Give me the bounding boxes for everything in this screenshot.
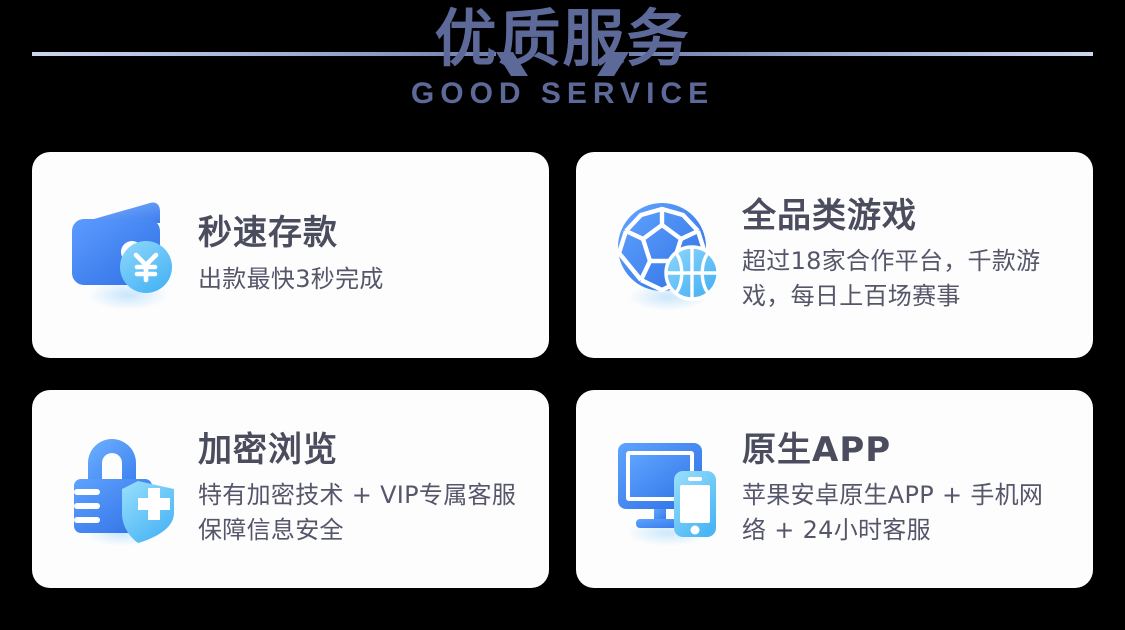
page-subtitle: GOOD SERVICE: [0, 77, 1125, 111]
card-title: 原生APP: [742, 431, 1067, 470]
card-description: 超过18家合作平台，千款游戏，每日上百场赛事: [742, 244, 1067, 312]
card-description: 出款最快3秒完成: [198, 262, 523, 296]
lock-shield-icon: [66, 429, 186, 549]
service-card-native-app[interactable]: 原生APP 苹果安卓原生APP + 手机网络 + 24小时客服: [576, 390, 1093, 588]
page-title: 优质服务: [0, 6, 1125, 73]
card-description: 苹果安卓原生APP + 手机网络 + 24小时客服: [742, 478, 1067, 546]
card-title: 全品类游戏: [742, 197, 1067, 236]
wallet-yen-icon: [66, 195, 186, 315]
card-title: 秒速存款: [198, 214, 523, 253]
service-card-grid: 秒速存款 出款最快3秒完成: [32, 152, 1093, 588]
page-header: 优质服务 GOOD SERVICE: [0, 0, 1125, 140]
service-card-games[interactable]: 全品类游戏 超过18家合作平台，千款游戏，每日上百场赛事: [576, 152, 1093, 358]
monitor-phone-icon: [610, 429, 730, 549]
service-card-encryption[interactable]: 加密浏览 特有加密技术 + VIP专属客服保障信息安全: [32, 390, 549, 588]
card-description: 特有加密技术 + VIP专属客服保障信息安全: [198, 478, 523, 546]
service-card-deposit[interactable]: 秒速存款 出款最快3秒完成: [32, 152, 549, 358]
soccer-basketball-icon: [610, 195, 730, 315]
card-title: 加密浏览: [198, 431, 523, 470]
